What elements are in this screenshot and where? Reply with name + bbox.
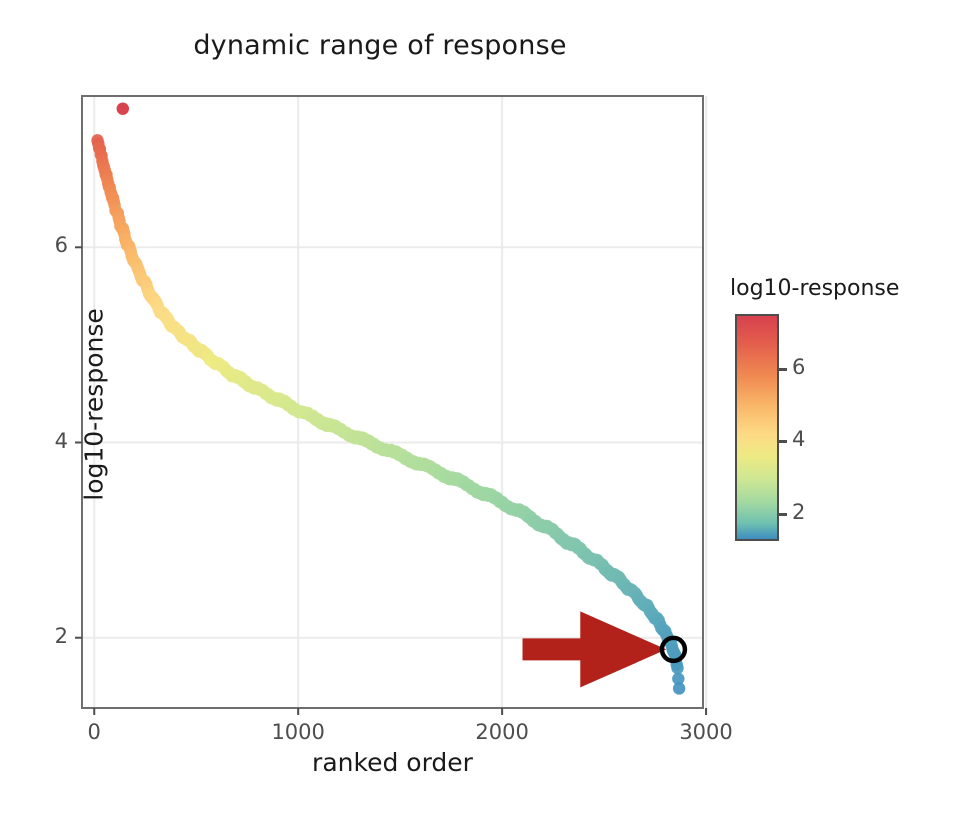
chart-canvas: dynamic range of response 0100020003000 … (0, 0, 972, 832)
data-points (91, 102, 685, 694)
x-axis-label: ranked order (82, 748, 703, 777)
legend-tick-label: 4 (792, 427, 805, 451)
panel-border (82, 96, 703, 708)
data-point-outlier (117, 102, 129, 114)
legend-tick-label: 6 (792, 355, 805, 379)
x-tick-label: 3000 (661, 720, 751, 744)
y-tick-label: 6 (8, 233, 68, 257)
right-arrow-annotation (523, 611, 667, 687)
x-tick-label: 1000 (253, 720, 343, 744)
y-tick-label: 4 (8, 429, 68, 453)
legend-tick-mark (779, 440, 787, 443)
y-tick-label: 2 (8, 624, 68, 648)
x-tick-label: 2000 (457, 720, 547, 744)
legend-title: log10-response (730, 276, 899, 301)
data-point (671, 662, 683, 674)
data-point (673, 682, 685, 694)
legend-colorbar (735, 314, 779, 541)
legend-tick-mark (779, 513, 787, 516)
plot-area (0, 0, 972, 832)
legend-tick-mark (779, 368, 787, 371)
legend-tick-label: 2 (792, 500, 805, 524)
y-axis-label: log10-response (80, 225, 109, 585)
x-tick-label: 0 (49, 720, 139, 744)
gridlines (82, 96, 706, 708)
